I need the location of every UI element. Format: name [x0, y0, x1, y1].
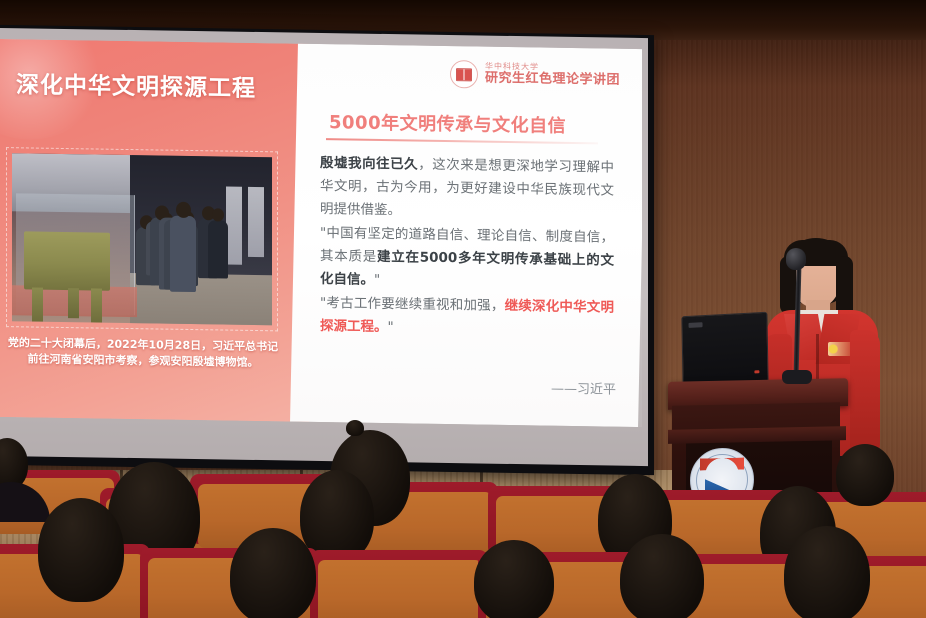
xi-visiting-yinxu-museum-photo [12, 153, 272, 325]
slide-heading: 5000年文明传承与文化自信 [329, 108, 566, 138]
photo-figure-xi [170, 216, 196, 292]
presentation-slide: 深化中华文明探源工程 [0, 39, 642, 427]
slide-paragraph: "中国有坚定的道路自信、理论自信、制度自信，其本质是建立在5000多年文明传承基… [320, 222, 614, 296]
laptop-brand-logo [688, 322, 702, 328]
laptop-indicator-light [754, 370, 759, 373]
paragraph-segment: " [374, 272, 380, 288]
audience-head [474, 540, 554, 618]
photo-figure-xi-head [176, 202, 191, 218]
audience-head [230, 528, 316, 618]
hust-lecture-team-logo: 华中科技大学 研究生红色理论学讲团 [450, 60, 620, 91]
heading-underline [326, 138, 598, 144]
laptop[interactable] [681, 312, 768, 388]
slide-attribution: ——习近平 [551, 378, 616, 398]
photo-exhibit-panel [226, 187, 242, 265]
paragraph-segment: 殷墟我向往已久 [320, 155, 418, 173]
slide-paragraph: 殷墟我向往已久，这次来是想更深地学习理解中华文明，古为今用，为更好建设中华民族现… [320, 152, 614, 226]
slide-right-panel: 华中科技大学 研究生红色理论学讲团 5000年文明传承与文化自信 殷墟我向往已久… [290, 44, 642, 427]
presenter-arm [850, 330, 880, 454]
photo-bronze-ding-leg [68, 288, 79, 318]
slide-paragraph: "考古工作要继续重视和加强，继续深化中华文明探源工程。" [320, 292, 614, 343]
audience-head [836, 444, 894, 506]
audience-head [346, 420, 364, 436]
audience-head [620, 534, 704, 618]
lecture-hall-scene: 深化中华文明探源工程 [0, 0, 926, 618]
paragraph-segment: " [388, 319, 394, 335]
open-book-icon [450, 60, 478, 88]
photo-caption: 党的二十大闭幕后，2022年10月28日，习近平总书记 前往河南省安阳市考察，参… [4, 335, 282, 371]
slide-title: 深化中华文明探源工程 [16, 65, 256, 103]
photo-bronze-ding-vessel [24, 231, 110, 290]
photo-figure [208, 220, 228, 278]
photo-figure-head [212, 208, 224, 221]
microphone-base [782, 370, 812, 384]
microphone-icon [786, 248, 806, 270]
audience-head [38, 498, 124, 602]
auditorium-seat [318, 560, 482, 618]
logo-organization-name: 研究生红色理论学讲团 [485, 72, 620, 88]
photo-exhibit-panel [248, 187, 264, 257]
paragraph-segment: "考古工作要继续重视和加强， [320, 295, 505, 314]
audience-head [784, 526, 870, 618]
